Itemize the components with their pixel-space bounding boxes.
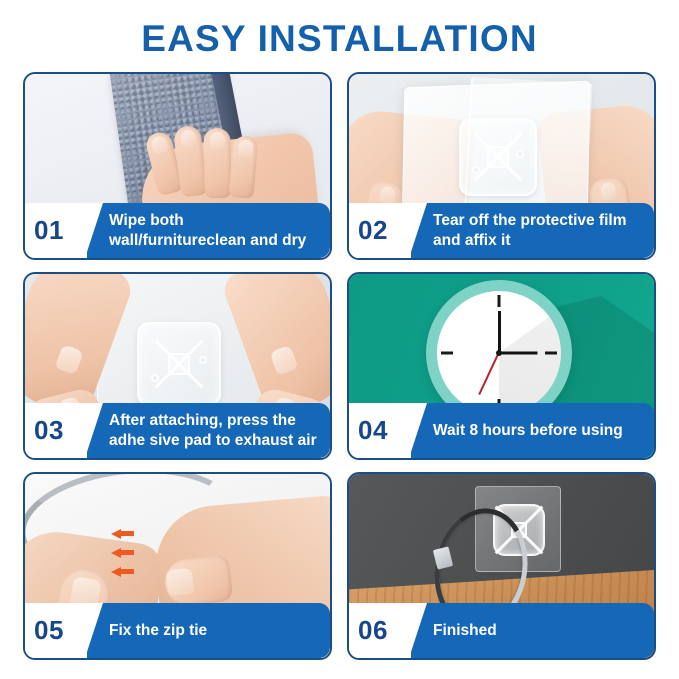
clock-center-pin xyxy=(496,350,502,356)
fingernail xyxy=(269,345,298,376)
step-06-text: Finished xyxy=(411,603,654,658)
step-panel-03: 03 After attaching, press the adhe sive … xyxy=(23,272,332,460)
step-05-number: 05 xyxy=(25,603,87,658)
pad-hole-left xyxy=(472,166,480,174)
page-title: EASY INSTALLATION xyxy=(0,18,679,60)
steps-grid: 01 Wipe both wall/furnitureclean and dry xyxy=(23,72,656,660)
fingernail xyxy=(379,185,397,205)
fingernail xyxy=(55,344,84,375)
adhesive-pad xyxy=(459,118,537,196)
pad-hole-right xyxy=(199,356,207,364)
direction-arrow-2 xyxy=(111,548,121,558)
adhesive-pad xyxy=(137,322,221,406)
step-05-caption-bar: 05 Fix the zip tie xyxy=(25,603,330,658)
clock-face xyxy=(437,291,561,415)
pad-center-post xyxy=(487,146,509,168)
step-panel-02: 02 Tear off the protective film and affi… xyxy=(347,72,656,260)
easy-installation-infographic: EASY INSTALLATION 01 Wipe both wall/furn… xyxy=(0,0,679,679)
step-05-text: Fix the zip tie xyxy=(87,603,330,658)
clock-tick-12 xyxy=(498,295,501,307)
clock-tick-3 xyxy=(545,352,557,355)
step-01-caption-bar: 01 Wipe both wall/furnitureclean and dry xyxy=(25,203,330,258)
right-index-finger xyxy=(163,555,233,608)
step-04-text: Wait 8 hours before using xyxy=(411,403,654,458)
step-02-caption-bar: 02 Tear off the protective film and affi… xyxy=(349,203,654,258)
step-panel-06: 06 Finished xyxy=(347,472,656,660)
step-04-caption-bar: 04 Wait 8 hours before using xyxy=(349,403,654,458)
finger-3 xyxy=(203,128,231,198)
step-panel-05: 05 Fix the zip tie xyxy=(23,472,332,660)
direction-arrow-2-tail xyxy=(121,550,134,555)
step-panel-04: 04 Wait 8 hours before using xyxy=(347,272,656,460)
step-02-text: Tear off the protective film and affix i… xyxy=(411,203,654,258)
step-panel-01: 01 Wipe both wall/furnitureclean and dry xyxy=(23,72,332,260)
fingernail xyxy=(237,139,253,157)
fingernail xyxy=(209,132,224,149)
pad-hole-left xyxy=(151,374,159,382)
step-04-number: 04 xyxy=(349,403,411,458)
direction-arrow-3 xyxy=(111,567,121,577)
fingernail xyxy=(179,129,196,148)
fingernail xyxy=(150,135,169,155)
pad-hole-right xyxy=(516,150,524,158)
pad-center-post xyxy=(168,353,190,375)
clock-tick-9 xyxy=(441,352,453,355)
clock-hour-hand xyxy=(498,311,501,353)
clock-minute-hand xyxy=(499,352,537,355)
step-01-number: 01 xyxy=(25,203,87,258)
step-03-text: After attaching, press the adhe sive pad… xyxy=(87,403,330,458)
direction-arrow-3-tail xyxy=(121,569,134,574)
step-03-caption-bar: 03 After attaching, press the adhe sive … xyxy=(25,403,330,458)
direction-arrow-1 xyxy=(111,529,121,539)
clock-second-hand xyxy=(479,353,500,395)
step-03-number: 03 xyxy=(25,403,87,458)
step-01-text: Wipe both wall/furnitureclean and dry xyxy=(87,203,330,258)
step-06-caption-bar: 06 Finished xyxy=(349,603,654,658)
step-02-number: 02 xyxy=(349,203,411,258)
step-06-number: 06 xyxy=(349,603,411,658)
fingernail xyxy=(600,181,618,200)
direction-arrow-1-tail xyxy=(121,531,134,536)
fingernail xyxy=(165,568,194,597)
